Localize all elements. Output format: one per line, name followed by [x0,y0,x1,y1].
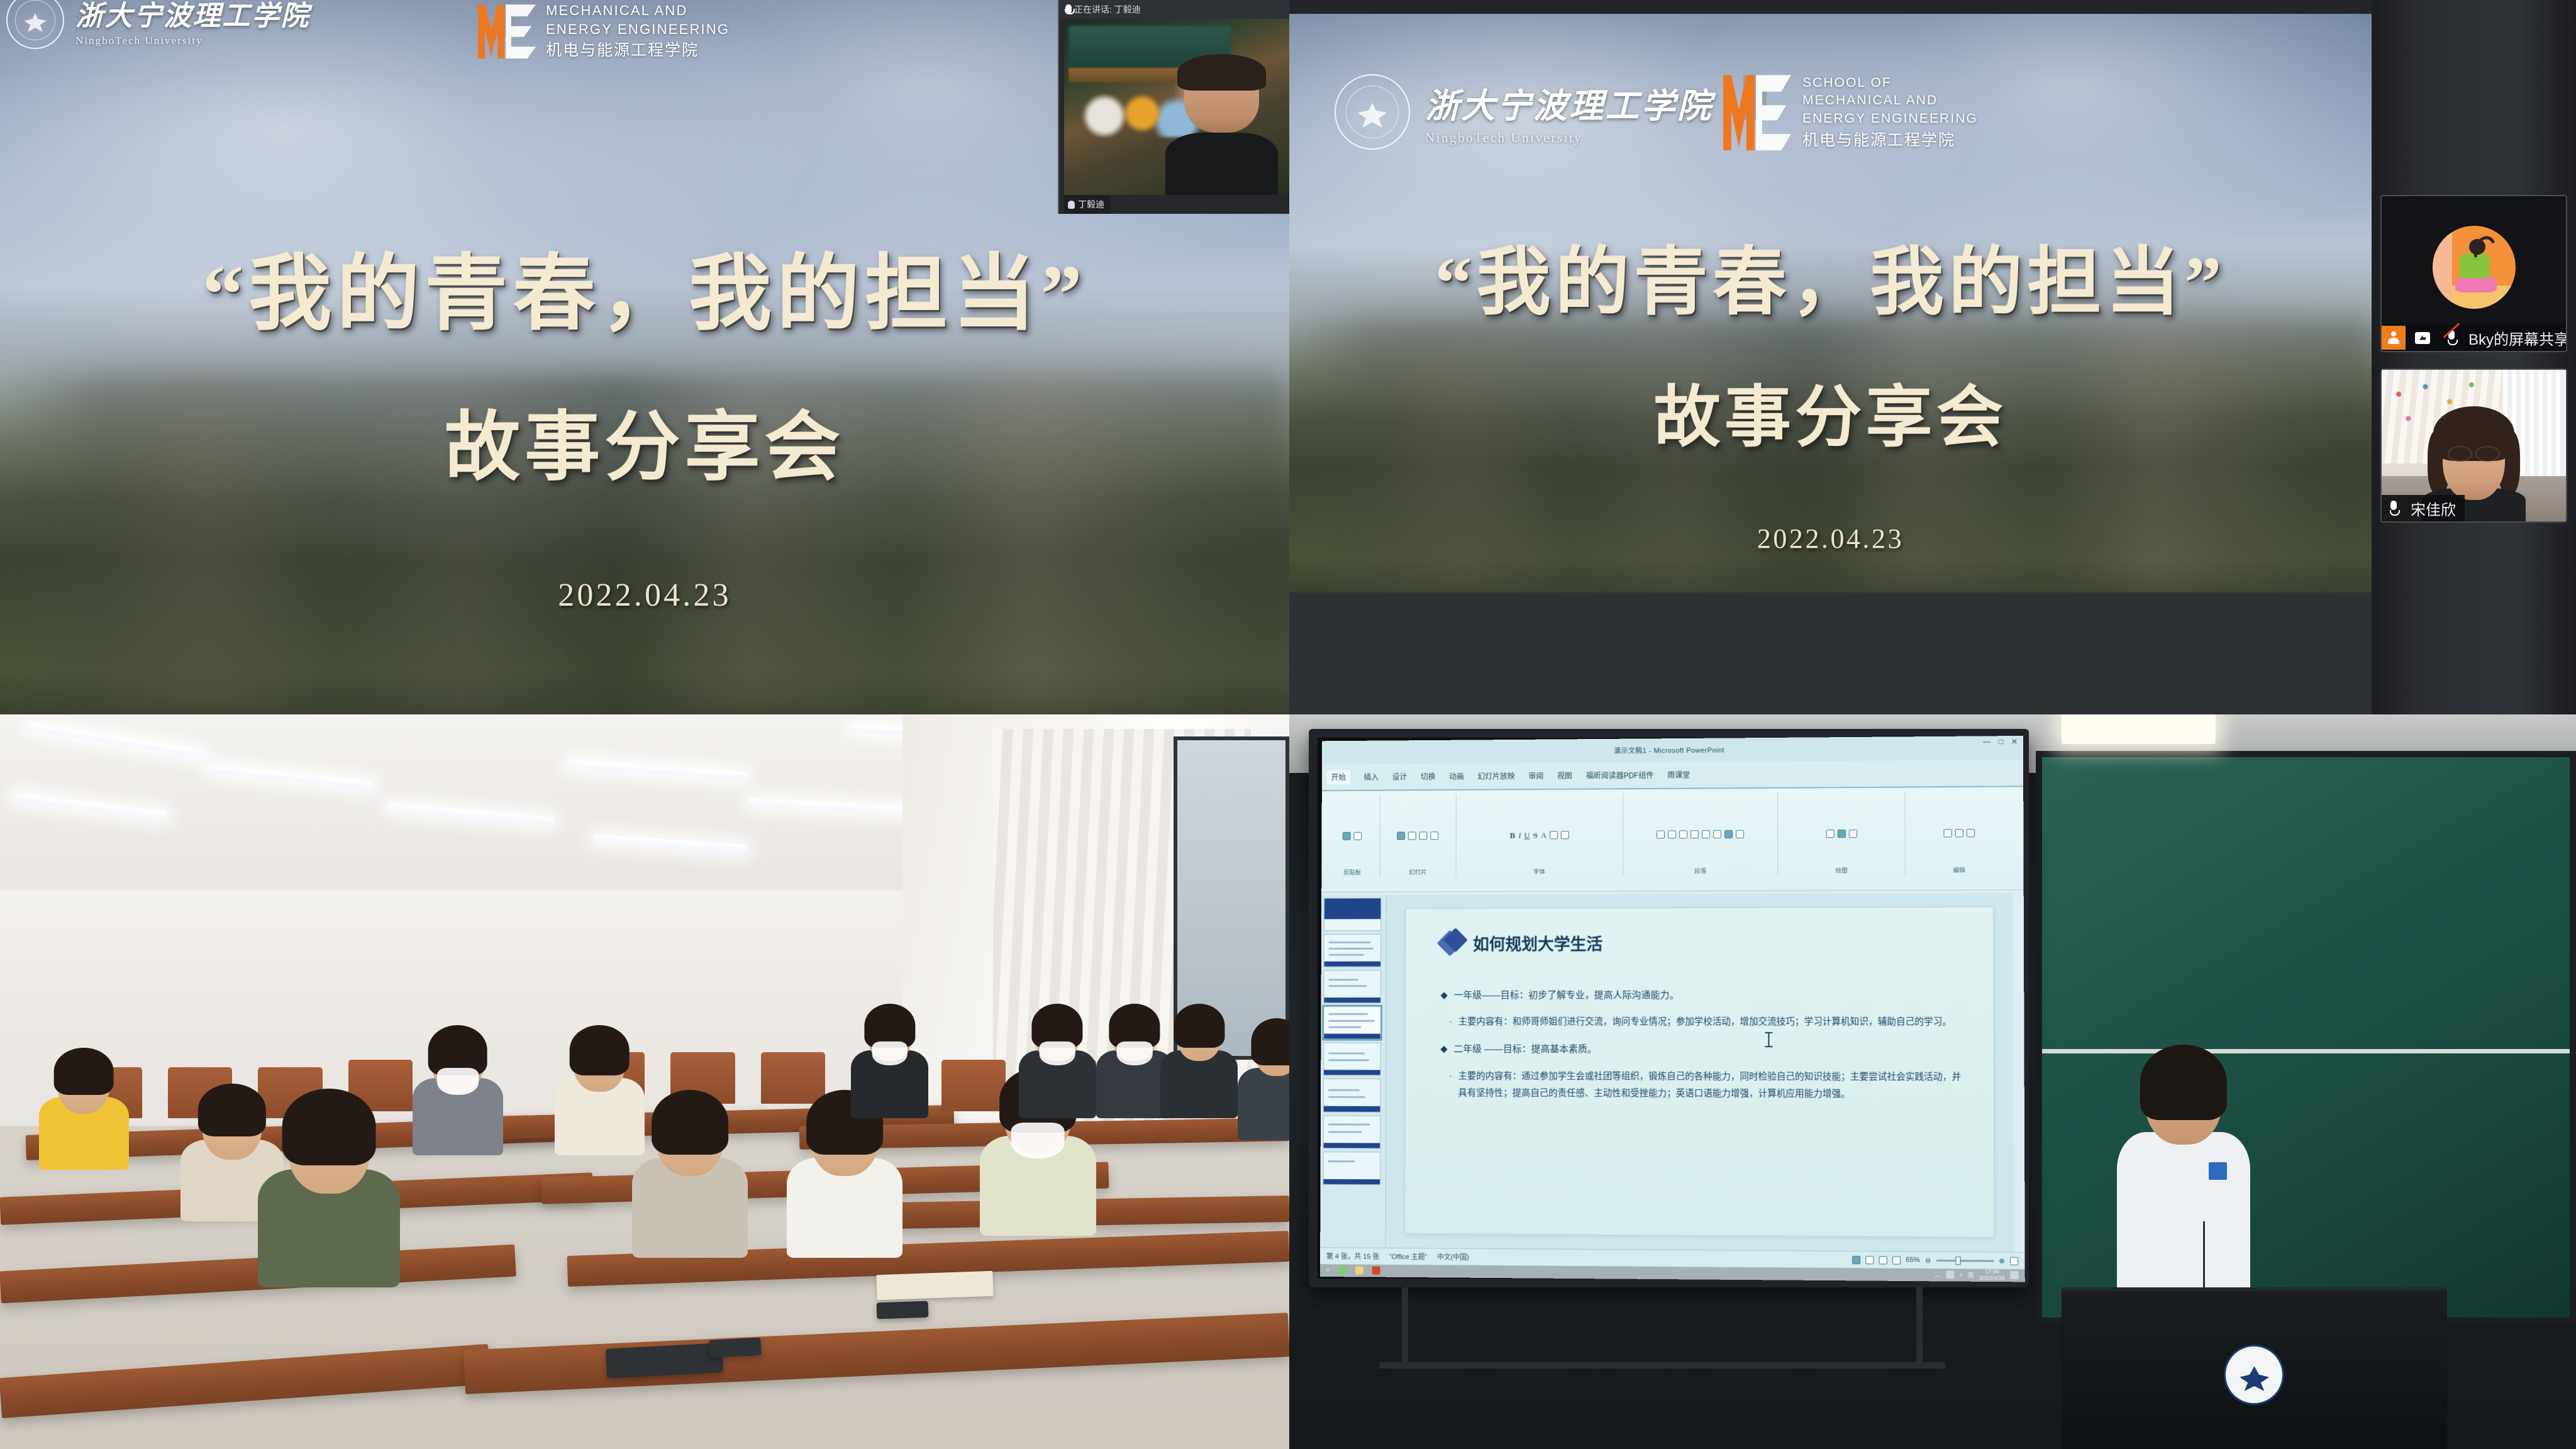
presenter-figure [2100,1052,2267,1302]
ribbon-group-clipboard[interactable]: 剪贴板 [1324,795,1380,878]
school-name-cn: 机电与能源工程学院 [546,40,730,62]
shared-screen-area[interactable]: 浙大宁波理工学院 NingboTech University SCHOOL OF… [1289,0,2372,714]
pip-speaking-label: 正在讲话: 丁毅迪 [1074,3,1141,16]
explorer-icon[interactable] [1355,1267,1363,1275]
slide-title-block-right: “我的青春，我的担当” 故事分享会 2022.04.23 [1289,221,2372,555]
ceiling-light [2062,714,2216,744]
bullet-text: 一年级——目标：初步了解专业，提高人际沟通能力。 [1453,987,1679,1004]
bullet-marker: · [1449,1069,1452,1102]
volume-icon[interactable]: ♪ [1959,1272,1962,1279]
tab-home[interactable]: 开始 [1326,770,1350,784]
ribbon-group-label: 剪贴板 [1324,867,1379,876]
chevron-up-icon[interactable]: ︿ [1934,1270,1940,1280]
tab-slideshow[interactable]: 幻灯片放映 [1477,771,1514,782]
network-icon[interactable] [1946,1271,1954,1279]
slide-bullet: · 主要内容有：和师哥师姐们进行交流，询问专业情况；参加学校活动，增加交流技巧；… [1449,1014,1970,1031]
tab-view[interactable]: 视图 [1557,770,1572,781]
student-figure [413,1030,503,1155]
university-name-en: NingboTech University [1425,130,1713,146]
university-name-en: NingboTech University [75,35,310,47]
window-controls[interactable]: — □ ✕ [1983,737,2018,746]
microphone-icon [1064,4,1070,14]
close-icon[interactable]: ✕ [2011,737,2018,746]
podium [2062,1287,2448,1449]
text-cursor-icon [1768,1033,1769,1048]
lecture-hall-scene: 演示文稿1 - Microsoft PowerPoint — □ ✕ 开始 插入… [1289,714,2576,1449]
powerpoint-window[interactable]: 演示文稿1 - Microsoft PowerPoint — □ ✕ 开始 插入… [1320,736,2025,1282]
slide-title-text: 如何规划大学生活 [1473,932,1602,955]
slide-thumbnail[interactable] [1323,934,1381,967]
school-line-0: SCHOOL OF [1802,74,1978,92]
microphone-icon [1068,201,1075,209]
zoom-slider[interactable] [1936,1260,1994,1262]
shared-slide-frame: 浙大宁波理工学院 NingboTech University SCHOOL OF… [1289,14,2372,592]
slide-thumbnail[interactable] [1323,1079,1381,1113]
phone-device [877,1301,929,1319]
underline-icon[interactable]: U [1524,831,1529,841]
pip-video-feed [1064,19,1289,195]
slide-bullet: ◆ 二年级 ——目标：提高基本素质。 [1440,1041,1970,1059]
ribbon-group-drawing[interactable]: 绘图 [1778,792,1906,876]
bullet-marker: ◆ [1440,987,1447,1004]
school-name-cn: 机电与能源工程学院 [1802,130,1978,152]
slide-date: 2022.04.23 [1289,523,2372,555]
slide-thumbnail-panel[interactable] [1320,895,1387,1248]
participant-tile-camera[interactable]: 宋佳欣 [2380,369,2567,523]
clock-date: 2022/4/26 [1979,1275,2005,1282]
slide-counter: 第 4 张，共 15 张 [1326,1252,1379,1262]
screenshot-collage: 浙大宁波理工学院 NingboTech University MECHANICA… [0,0,2576,1449]
participant-tile-screen-share[interactable]: Bky的屏幕共享 [2380,195,2567,352]
ribbon-group-label: 段落 [1623,866,1777,875]
participant-label: 宋佳欣 [2382,495,2465,521]
university-seal-icon [1335,74,1410,150]
pip-participant-tile[interactable]: 正在讲话: 丁毅迪 丁毅迪 [1058,0,1289,214]
slide-thumbnail[interactable] [1323,970,1381,1004]
participant-name: Bky的屏幕共享 [2468,327,2567,349]
school-line-1: MECHANICAL AND [1802,92,1978,109]
ribbon-group-slides[interactable]: 幻灯片 [1380,794,1456,877]
current-slide[interactable]: 如何规划大学生活 ◆ 一年级——目标：初步了解专业，提高人际沟通能力。 · 主要… [1404,907,1994,1238]
student-figure [258,1096,400,1287]
participant-name: 宋佳欣 [2411,497,2456,519]
university-seal-icon [6,0,64,49]
school-line-1: MECHANICAL AND [546,1,730,20]
slide-heading: 如何规划大学生活 [1440,931,1602,955]
notebook [876,1270,993,1299]
slide-thumbnail[interactable] [1323,1115,1380,1148]
strikethrough-icon[interactable]: S [1533,831,1537,841]
bullet-text: 主要内容有：和师哥师姐们进行交流，询问专业情况；参加学校活动，增加交流技巧；学习… [1458,1014,1951,1031]
school-logo-right: SCHOOL OF MECHANICAL AND ENERGY ENGINEER… [1723,74,1978,152]
ribbon[interactable]: 剪贴板 幻灯片 B I U S A [1321,787,2023,893]
maximize-icon[interactable]: □ [1999,738,2004,747]
slideshow-icon[interactable] [1892,1256,1901,1264]
student-figure [787,1096,903,1258]
slide-thumbnail-current[interactable] [1323,1006,1381,1040]
school-logo-left: MECHANICAL AND ENERGY ENGINEERING 机电与能源工… [478,1,730,62]
browser-icon[interactable] [1338,1267,1346,1275]
pip-name-label: 丁毅迪 [1078,198,1104,211]
ime-indicator[interactable]: 英 [1967,1270,1974,1280]
italic-icon[interactable]: I [1518,831,1521,841]
tab-transitions[interactable]: 切换 [1421,772,1436,782]
ribbon-group-paragraph[interactable]: 段落 [1623,792,1778,877]
slide-subtitle: 故事分享会 [1289,363,2372,460]
student-figure [1160,1008,1238,1118]
university-name-cn: 浙大宁波理工学院 [1425,78,1713,128]
me-monogram-icon [478,4,536,58]
panel-classroom-audience [0,714,1289,1449]
taskbar-clock[interactable]: 17:06 2022/4/26 [1979,1269,2005,1281]
slide-edit-stage[interactable]: 如何规划大学生活 ◆ 一年级——目标：初步了解专业，提高人际沟通能力。 · 主要… [1385,892,2014,1252]
minimize-icon[interactable]: — [1983,738,1991,747]
slide-title: “我的青春，我的担当” [0,226,1289,347]
reading-view-icon[interactable] [1879,1256,1887,1264]
panel-screen-share-fullscreen: 浙大宁波理工学院 NingboTech University MECHANICA… [0,0,1289,714]
bold-icon[interactable]: B [1509,831,1515,841]
search-icon[interactable]: ⌕ [1326,1267,1330,1274]
tab-animations[interactable]: 动画 [1449,771,1464,782]
panel-meeting-window: 浙大宁波理工学院 NingboTech University SCHOOL OF… [1289,0,2576,714]
ribbon-group-font[interactable]: B I U S A 字体 [1456,794,1623,877]
student-figure [851,1008,928,1118]
font-color-icon[interactable]: A [1541,831,1546,841]
bullet-text: 二年级 ——目标：提高基本素质。 [1453,1041,1596,1058]
panel-lecture-hall: 演示文稿1 - Microsoft PowerPoint — □ ✕ 开始 插入… [1289,714,2576,1449]
participant-label: Bky的屏幕共享 [2382,325,2567,351]
slide-bullet: ◆ 一年级——目标：初步了解专业，提高人际沟通能力。 [1440,987,1969,1004]
language-indicator[interactable]: 中文(中国) [1437,1252,1469,1262]
pip-name-badge: 丁毅迪 [1064,195,1111,214]
school-line-2: ENERGY ENGINEERING [1802,110,1978,128]
window-title: 演示文稿1 - Microsoft PowerPoint [1614,745,1724,756]
screen-stand [1379,1287,1945,1368]
zoom-out-icon[interactable]: ⊖ [1925,1257,1931,1265]
notification-icon[interactable] [2010,1272,2018,1280]
tab-design[interactable]: 设计 [1392,772,1407,782]
student-figure [39,1052,130,1170]
slide-title-block-left: “我的青春，我的担当” 故事分享会 2022.04.23 [0,226,1289,614]
ribbon-group-editing[interactable]: 编辑 [1906,791,2012,876]
slide-sorter-icon[interactable] [1865,1256,1874,1264]
classroom-scene [0,714,1289,1449]
bullet-marker: ◆ [1440,1041,1447,1058]
student-figure [1238,1023,1289,1141]
student-figure [555,1030,645,1155]
avatar [2433,226,2516,309]
university-seal-icon [2224,1345,2284,1405]
bullet-text: 主要的内容有：通过参加学生会或社团等组织，锻炼自己的各种能力，同时检验自己的知识… [1458,1069,1969,1104]
slide-body: ◆ 一年级——目标：初步了解专业，提高人际沟通能力。 · 主要内容有：和师哥师姐… [1440,987,1970,1114]
projection-screen: 演示文稿1 - Microsoft PowerPoint — □ ✕ 开始 插入… [1309,729,2029,1287]
slide-title: “我的青春，我的担当” [1289,221,2372,329]
microphone-icon [2382,496,2406,520]
participants-rail[interactable]: Bky的屏幕共享 宋佳欣 [2372,0,2576,714]
ribbon-group-label: 编辑 [1906,865,2012,874]
slide-header-right: 浙大宁波理工学院 NingboTech University [1335,74,1713,150]
slide-bullet: · 主要的内容有：通过参加学生会或社团等组织，锻炼自己的各种能力，同时检验自己的… [1449,1069,1970,1104]
slide-header-left: 浙大宁波理工学院 NingboTech University [6,0,310,49]
slide-subtitle: 故事分享会 [0,386,1289,495]
pip-speaking-indicator: 正在讲话: 丁毅迪 [1059,0,1289,19]
slide-thumbnail[interactable] [1323,1043,1381,1076]
diamond-bullet-icon [1440,932,1464,956]
student-figure [632,1096,748,1258]
powerpoint-icon[interactable] [1372,1267,1380,1275]
ribbon-group-label: 幻灯片 [1380,867,1455,876]
ribbon-group-label: 绘图 [1778,865,1905,875]
zoom-in-icon[interactable]: ⊕ [1999,1257,2004,1265]
slide-thumbnail[interactable] [1324,898,1382,931]
screen-share-icon [2411,326,2434,350]
tab-review[interactable]: 审阅 [1528,770,1543,781]
person-icon [2382,326,2406,350]
tab-rain-classroom[interactable]: 雨课堂 [1667,770,1690,780]
tab-insert[interactable]: 插入 [1363,772,1379,782]
slide-date: 2022.04.23 [0,577,1289,614]
share-toolbar-strip [1289,0,2372,14]
microphone-muted-icon [2440,326,2463,350]
zoom-level: 65% [1906,1257,1919,1264]
school-line-2: ENERGY ENGINEERING [546,20,730,39]
normal-view-icon[interactable] [1852,1256,1860,1264]
phone-device [709,1338,761,1358]
ribbon-group-label: 字体 [1456,867,1623,876]
ribbon-tabs[interactable]: 开始 插入 设计 切换 动画 幻灯片放映 审阅 视图 福昕阅读器PDF组件 雨课… [1322,760,2023,791]
tab-foxit-pdf[interactable]: 福昕阅读器PDF组件 [1586,770,1653,781]
student-figure [1019,1008,1096,1118]
me-monogram-icon [1723,75,1791,150]
theme-name: “Office 主题” [1389,1252,1427,1262]
bullet-marker: · [1449,1014,1452,1031]
slide-thumbnail[interactable] [1323,1152,1380,1185]
fit-to-window-icon[interactable] [2010,1257,2018,1265]
university-name-cn: 浙大宁波理工学院 [75,0,310,33]
